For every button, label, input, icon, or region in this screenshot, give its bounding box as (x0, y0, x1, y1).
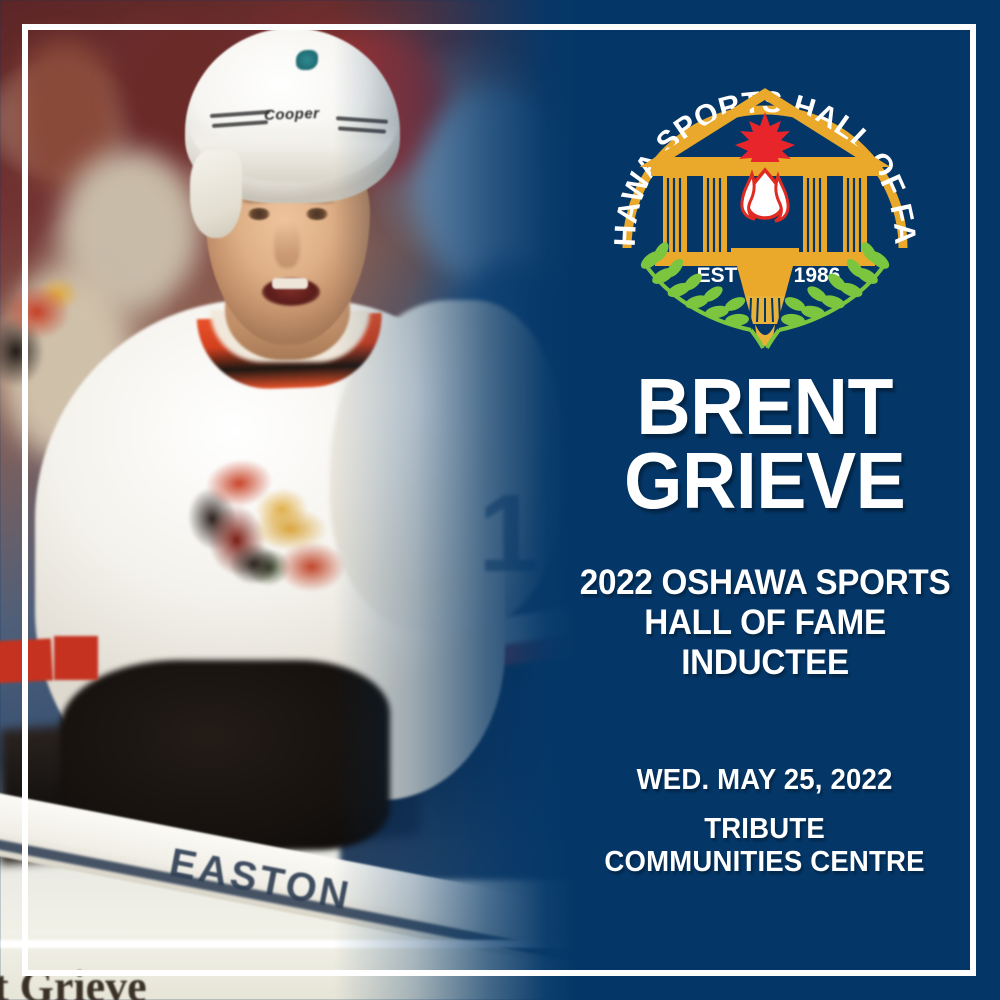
inductee-last-name: GRIEVE (624, 444, 905, 518)
logo-est-label: EST (697, 264, 738, 287)
hall-of-fame-logo-icon: OSHAWA SPORTS HALL OF FAME (605, 52, 925, 352)
player-photo: 1 Cooper EASTON (0, 0, 575, 1000)
event-venue-line-2: COMMUNITIES CENTRE (605, 846, 925, 879)
content-column: OSHAWA SPORTS HALL OF FAME (555, 0, 975, 1000)
inductee-name: BRENT GRIEVE (615, 370, 914, 519)
subtitle-line-2: HALL OF FAME (580, 603, 951, 643)
poster: 1 Cooper EASTON (0, 0, 1000, 1000)
event-venue: TRIBUTE COMMUNITIES CENTRE (605, 813, 925, 879)
hall-of-fame-logo: OSHAWA SPORTS HALL OF FAME (605, 52, 925, 352)
subtitle-line-3: INDUCTEE (580, 643, 951, 683)
subtitle-line-1: 2022 OSHAWA SPORTS (580, 563, 951, 603)
event-venue-line-1: TRIBUTE (605, 813, 925, 846)
flame-icon (742, 170, 788, 221)
photo-fade-overlay (0, 0, 575, 1000)
inductee-first-name: BRENT (624, 370, 905, 444)
event-details: WED. MAY 25, 2022 TRIBUTE COMMUNITIES CE… (596, 764, 933, 879)
event-date: WED. MAY 25, 2022 (605, 764, 925, 797)
induction-subtitle: 2022 OSHAWA SPORTS HALL OF FAME INDUCTEE (580, 563, 951, 684)
